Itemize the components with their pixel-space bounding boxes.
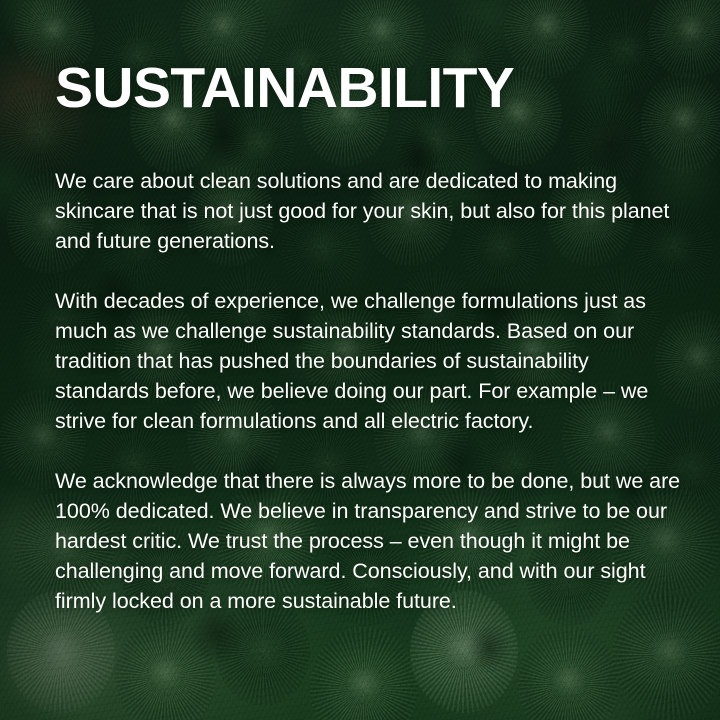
body-paragraph: We care about clean solutions and are de… [55,166,687,256]
body-paragraph: We acknowledge that there is always more… [55,466,687,616]
page-title: SUSTAINABILITY [55,58,514,118]
sustainability-page: SUSTAINABILITY We care about clean solut… [0,0,720,720]
content-container: SUSTAINABILITY We care about clean solut… [55,0,687,720]
body-paragraph: With decades of experience, we challenge… [55,286,687,436]
body-copy: We care about clean solutions and are de… [55,166,687,616]
